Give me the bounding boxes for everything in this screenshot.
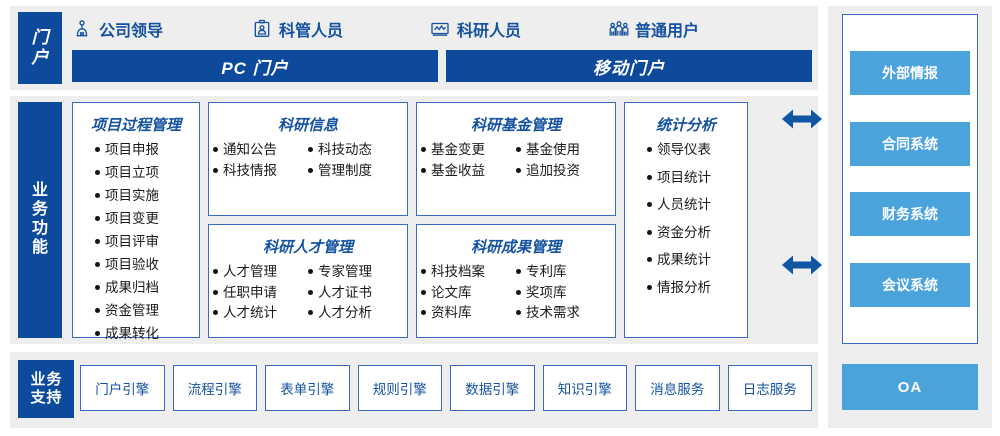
engine-form[interactable]: 表单引擎 (265, 365, 350, 411)
support-label-char-1: 务 (47, 371, 62, 389)
list-item[interactable]: 成果归档 (95, 281, 159, 295)
external-system-oa[interactable]: OA (842, 364, 978, 410)
list-item[interactable]: 基金收益 (421, 164, 516, 178)
list-item[interactable]: 科技情报 (213, 164, 308, 178)
service-log[interactable]: 日志服务 (728, 365, 813, 411)
engine-knowledge[interactable]: 知识引擎 (543, 365, 628, 411)
card-research-result-management[interactable]: 科研成果管理 科技档案 专利库 论文库 奖项库 资料库 技术需求 (416, 224, 616, 338)
list-item[interactable]: 科技动态 (308, 143, 403, 157)
portal-bar-pc[interactable]: PC 门户 (72, 50, 438, 82)
list-item[interactable]: 追加投资 (516, 164, 611, 178)
role-company-leader[interactable]: 公司领导 (72, 17, 252, 41)
card-statistical-analysis[interactable]: 统计分析 领导仪表 项目统计 人员统计 资金分析 成果统计 情报分析 (624, 102, 748, 338)
role-row: 公司领导 科管人员 科研人员 (72, 12, 812, 46)
card-item-list: 项目申报 项目立项 项目实施 项目变更 项目评审 项目验收 成果归档 资金管理 … (77, 143, 195, 350)
func-label-char-2: 功 (32, 220, 48, 239)
list-item[interactable]: 项目验收 (95, 258, 159, 272)
portal-bars: PC 门户 移动门户 (72, 50, 812, 82)
role-research-admin-label: 科管人员 (279, 17, 343, 41)
engine-rule[interactable]: 规则引擎 (358, 365, 443, 411)
card-item-list: 人才管理 专家管理 任职申请 人才证书 人才统计 人才分析 (213, 265, 403, 327)
engine-process[interactable]: 流程引擎 (173, 365, 258, 411)
role-researcher-label: 科研人员 (457, 17, 521, 41)
business-support-section-label: 业 务 支 持 (18, 360, 74, 418)
list-item[interactable]: 论文库 (421, 286, 516, 300)
support-label-char-2: 支 (30, 389, 45, 407)
card-item-list: 基金变更 基金使用 基金收益 追加投资 (421, 143, 611, 184)
list-item[interactable]: 技术需求 (516, 306, 611, 320)
list-item[interactable]: 领导仪表 (647, 143, 711, 157)
list-item[interactable]: 专家管理 (308, 265, 403, 279)
list-item[interactable]: 项目立项 (95, 166, 159, 180)
list-item[interactable]: 人才证书 (308, 286, 403, 300)
func-label-char-0: 业 (32, 182, 48, 201)
support-label-char-0: 业 (30, 371, 45, 389)
list-item[interactable]: 人才统计 (213, 306, 308, 320)
list-item[interactable]: 管理制度 (308, 164, 403, 178)
leader-person-icon (72, 19, 92, 39)
list-item[interactable]: 项目实施 (95, 189, 159, 203)
external-system-intelligence[interactable]: 外部情报 (850, 51, 970, 95)
list-item[interactable]: 资料库 (421, 306, 516, 320)
func-label-char-3: 能 (32, 239, 48, 258)
list-item[interactable]: 专利库 (516, 265, 611, 279)
role-researcher[interactable]: 科研人员 (430, 17, 608, 41)
portal-section-label: 门 户 (18, 12, 62, 84)
list-item[interactable]: 通知公告 (213, 143, 308, 157)
list-item[interactable]: 项目统计 (647, 171, 711, 185)
service-message[interactable]: 消息服务 (635, 365, 720, 411)
list-item[interactable]: 人才管理 (213, 265, 308, 279)
list-item[interactable]: 人员统计 (647, 198, 711, 212)
double-arrow-horizontal-icon-bottom (782, 252, 822, 278)
engine-data[interactable]: 数据引擎 (450, 365, 535, 411)
engine-portal[interactable]: 门户引擎 (80, 365, 165, 411)
role-normal-user-label: 普通用户 (635, 17, 699, 41)
card-title: 科研信息 (213, 114, 403, 135)
portal-label-char-1: 户 (32, 48, 49, 68)
list-item[interactable]: 情报分析 (647, 281, 711, 295)
engine-row: 门户引擎 流程引擎 表单引擎 规则引擎 数据引擎 知识引擎 消息服务 日志服务 (80, 365, 812, 411)
card-research-fund-management[interactable]: 科研基金管理 基金变更 基金使用 基金收益 追加投资 (416, 102, 616, 216)
external-systems-box: 外部情报 合同系统 财务系统 会议系统 (842, 14, 978, 344)
list-item[interactable]: 项目变更 (95, 212, 159, 226)
chart-monitor-icon (430, 19, 450, 39)
user-group-icon (608, 19, 628, 39)
card-research-information[interactable]: 科研信息 通知公告 科技动态 科技情报 管理制度 (208, 102, 408, 216)
role-company-leader-label: 公司领导 (99, 17, 163, 41)
role-normal-user[interactable]: 普通用户 (608, 17, 699, 41)
support-label-char-3: 持 (47, 389, 62, 407)
card-title: 统计分析 (629, 114, 743, 135)
card-title: 科研成果管理 (421, 236, 611, 257)
function-card-grid: 项目过程管理 项目申报 项目立项 项目实施 项目变更 项目评审 项目验收 成果归… (72, 102, 816, 338)
list-item[interactable]: 成果统计 (647, 253, 711, 267)
list-item[interactable]: 项目申报 (95, 143, 159, 157)
portal-bar-mobile[interactable]: 移动门户 (446, 50, 812, 82)
card-title: 科研人才管理 (213, 236, 403, 257)
func-label-char-1: 务 (32, 201, 48, 220)
list-item[interactable]: 基金使用 (516, 143, 611, 157)
list-item[interactable]: 基金变更 (421, 143, 516, 157)
list-item[interactable]: 奖项库 (516, 286, 611, 300)
card-item-list: 通知公告 科技动态 科技情报 管理制度 (213, 143, 403, 184)
double-arrow-horizontal-icon-top (782, 106, 822, 132)
role-research-admin[interactable]: 科管人员 (252, 17, 430, 41)
external-system-finance[interactable]: 财务系统 (850, 192, 970, 236)
card-item-list: 领导仪表 项目统计 人员统计 资金分析 成果统计 情报分析 (629, 143, 743, 308)
list-item[interactable]: 项目评审 (95, 235, 159, 249)
business-function-section-label: 业 务 功 能 (18, 102, 62, 338)
portal-label-char-0: 门 (32, 28, 49, 48)
list-item[interactable]: 资金管理 (95, 304, 159, 318)
list-item[interactable]: 成果转化 (95, 327, 159, 341)
list-item[interactable]: 资金分析 (647, 226, 711, 240)
id-badge-person-icon (252, 19, 272, 39)
list-item[interactable]: 任职申请 (213, 286, 308, 300)
external-system-contract[interactable]: 合同系统 (850, 122, 970, 166)
card-project-process-management[interactable]: 项目过程管理 项目申报 项目立项 项目实施 项目变更 项目评审 项目验收 成果归… (72, 102, 200, 338)
card-research-talent-management[interactable]: 科研人才管理 人才管理 专家管理 任职申请 人才证书 人才统计 人才分析 (208, 224, 408, 338)
external-system-meeting[interactable]: 会议系统 (850, 263, 970, 307)
card-title: 科研基金管理 (421, 114, 611, 135)
list-item[interactable]: 人才分析 (308, 306, 403, 320)
card-item-list: 科技档案 专利库 论文库 奖项库 资料库 技术需求 (421, 265, 611, 327)
card-title: 项目过程管理 (77, 114, 195, 135)
architecture-diagram: 门 户 公司领导 (0, 0, 1000, 436)
list-item[interactable]: 科技档案 (421, 265, 516, 279)
